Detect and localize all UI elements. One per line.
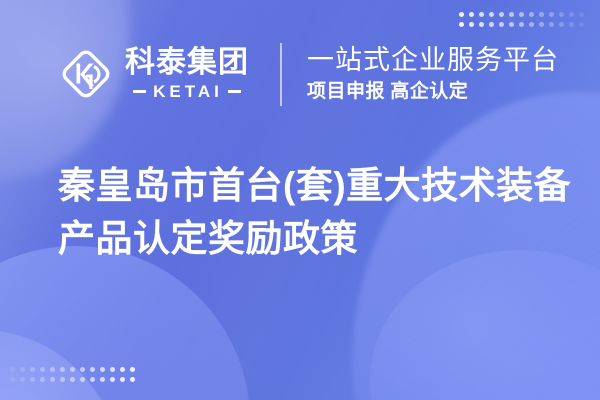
dot <box>130 367 135 372</box>
blob-bottom-left-inner <box>0 330 120 400</box>
dot <box>469 22 474 27</box>
dot <box>579 22 584 27</box>
dot <box>489 22 494 27</box>
dot <box>459 22 464 27</box>
dot <box>10 377 15 382</box>
page-title: 秦皇岛市首台(套)重大技术装备 产品认定奖励政策 <box>58 160 568 265</box>
dot <box>70 377 75 382</box>
page-title-line-1: 秦皇岛市首台(套)重大技术装备 <box>58 160 568 213</box>
dot <box>559 12 564 17</box>
dot <box>130 377 135 382</box>
dot-row <box>459 22 584 27</box>
banner-header: 科泰集团 KETAI 一站式企业服务平台 项目申报 高企认定 <box>56 42 559 106</box>
dot <box>80 377 85 382</box>
logo-chinese-name: 科泰集团 <box>125 48 249 78</box>
dot <box>509 12 514 17</box>
promo-banner: 科泰集团 KETAI 一站式企业服务平台 项目申报 高企认定 秦皇岛市首台(套)… <box>0 0 600 400</box>
dot <box>120 367 125 372</box>
dot <box>509 22 514 27</box>
dot-grid-bottom-left <box>10 367 135 382</box>
blob-bottom-right <box>370 250 600 400</box>
dot <box>549 22 554 27</box>
dot <box>110 367 115 372</box>
dot <box>80 367 85 372</box>
dot-row <box>10 367 135 372</box>
ketai-logo-wordmark: 科泰集团 KETAI <box>125 48 249 100</box>
ketai-diamond-kt-monogram-icon <box>56 44 116 104</box>
dot <box>549 12 554 17</box>
dot-row <box>10 377 135 382</box>
dot <box>459 12 464 17</box>
dot <box>469 12 474 17</box>
dot <box>479 22 484 27</box>
dot <box>70 367 75 372</box>
dot <box>20 377 25 382</box>
dot <box>539 22 544 27</box>
dot <box>100 377 105 382</box>
dot <box>569 22 574 27</box>
dot <box>559 22 564 27</box>
dot <box>10 367 15 372</box>
dot-row <box>459 12 584 17</box>
dot <box>40 377 45 382</box>
dot <box>519 12 524 17</box>
dot <box>489 12 494 17</box>
dot <box>60 367 65 372</box>
logo-english-name: KETAI <box>153 83 223 100</box>
dot <box>50 367 55 372</box>
dot <box>519 22 524 27</box>
page-title-line-2: 产品认定奖励政策 <box>58 213 568 266</box>
dot <box>529 12 534 17</box>
dot <box>90 377 95 382</box>
dot <box>50 377 55 382</box>
dot <box>120 377 125 382</box>
logo-english-row: KETAI <box>125 83 249 100</box>
tagline-block: 一站式企业服务平台 项目申报 高企认定 <box>307 42 559 106</box>
dot <box>30 367 35 372</box>
dot <box>30 377 35 382</box>
dot <box>20 367 25 372</box>
ketai-logo[interactable]: 科泰集团 KETAI <box>56 42 249 106</box>
dot <box>479 12 484 17</box>
dot <box>90 367 95 372</box>
dot <box>60 377 65 382</box>
dot <box>100 367 105 372</box>
logo-dash-left-icon <box>133 90 146 93</box>
dot <box>110 377 115 382</box>
dot <box>499 22 504 27</box>
dot <box>539 12 544 17</box>
dot <box>569 12 574 17</box>
dot <box>579 12 584 17</box>
logo-dash-right-icon <box>228 90 241 93</box>
tagline-main: 一站式企业服务平台 <box>307 45 559 75</box>
tagline-sub: 项目申报 高企认定 <box>307 81 559 103</box>
dot-grid-top-right <box>459 12 584 27</box>
dot <box>40 367 45 372</box>
header-divider <box>280 43 282 106</box>
dot <box>499 12 504 17</box>
dot <box>529 22 534 27</box>
